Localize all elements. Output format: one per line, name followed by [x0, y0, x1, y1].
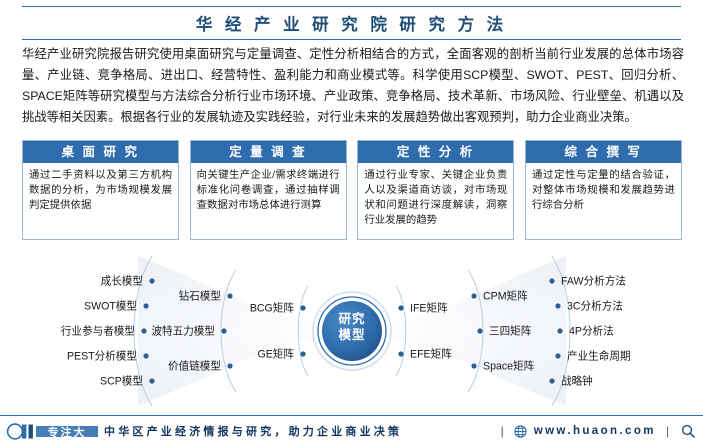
page-title: 华 经 产 业 研 究 院 研 究 方 法	[196, 11, 507, 35]
method-card-desk-research: 桌 面 研 究 通过二手资料以及第三方机构数据的分析，为市场规模发展判定提供依据	[22, 140, 179, 240]
center-label-line1: 研究	[329, 311, 375, 327]
diagram-center-label: 研究 模型	[329, 311, 375, 343]
footer-bar: 专注大 中华区产业经济情报与研究，助力企业商业决策 | www.huaon.co…	[0, 415, 703, 446]
title-bar: 华 经 产 业 研 究 院 研 究 方 法	[22, 6, 681, 40]
search-icon[interactable]	[681, 424, 695, 438]
footer-separator-2: |	[666, 424, 669, 438]
model-node-space-matrix[interactable]: Space矩阵	[483, 359, 534, 374]
method-card-quantitative-survey: 定 量 调 查 向关键生产企业/需求终端进行标准化问卷调查，通过抽样调查数据对市…	[190, 140, 347, 240]
model-node-strategy-clock[interactable]: 战略钟	[561, 374, 593, 389]
method-card-list: 桌 面 研 究 通过二手资料以及第三方机构数据的分析，为市场规模发展判定提供依据…	[22, 140, 682, 240]
model-node-faw-analysis[interactable]: FAW分析方法	[561, 274, 626, 289]
model-node-pest[interactable]: PEST分析模型	[67, 349, 137, 364]
model-node-scp[interactable]: SCP模型	[100, 374, 143, 389]
globe-icon	[514, 425, 527, 438]
footer-right-group: | www.huaon.com |	[491, 424, 695, 438]
logo-watermark-text: 专注大	[36, 424, 98, 440]
model-node-cpm-matrix[interactable]: CPM矩阵	[483, 289, 528, 304]
model-node-growth[interactable]: 成长模型	[101, 274, 143, 289]
method-card-qualitative-analysis: 定 性 分 析 通过行业专家、关键企业负责人以及渠道商访谈，对市场现状和问题进行…	[357, 140, 514, 240]
intro-paragraph: 华经产业研究院报告研究使用桌面研究与定量调查、定性分析相结合的方式，全面客观的剖…	[22, 44, 684, 128]
model-node-4p-analysis[interactable]: 4P分析法	[569, 324, 614, 339]
model-node-diamond[interactable]: 钻石模型	[179, 289, 221, 304]
card-body: 通过行业专家、关键企业负责人以及渠道商访谈，对市场现状和问题进行深度解读，洞察行…	[358, 163, 513, 239]
model-node-ife-matrix[interactable]: IFE矩阵	[410, 301, 448, 316]
card-heading: 综 合 撰 写	[526, 141, 681, 163]
footer-website-url[interactable]: www.huaon.com	[534, 425, 656, 437]
model-node-industry-player[interactable]: 行业参与者模型	[61, 324, 135, 339]
model-node-34-matrix[interactable]: 三四矩阵	[489, 324, 531, 339]
model-node-industry-lifecycle[interactable]: 产业生命周期	[567, 349, 631, 364]
card-body: 通过二手资料以及第三方机构数据的分析，为市场规模发展判定提供依据	[23, 163, 178, 239]
method-card-comprehensive-writing: 综 合 撰 写 通过定性与定量的结合验证，对整体市场规模和发展趋势进行综合分析	[525, 140, 682, 240]
center-label-line2: 模型	[329, 327, 375, 343]
footer-tagline: 中华区产业经济情报与研究，助力企业商业决策	[104, 423, 402, 439]
huaon-logo[interactable]: 专注大	[6, 422, 102, 441]
model-node-3c-analysis[interactable]: 3C分析方法	[567, 299, 623, 314]
model-node-ge-matrix[interactable]: GE矩阵	[258, 347, 295, 362]
footer-separator-1: |	[501, 424, 504, 438]
model-node-value-chain[interactable]: 价值链模型	[168, 359, 221, 374]
card-body: 向关键生产企业/需求终端进行标准化问卷调查，通过抽样调查数据对市场总体进行测算	[191, 163, 346, 239]
model-node-efe-matrix[interactable]: EFE矩阵	[410, 347, 452, 362]
card-heading: 桌 面 研 究	[23, 141, 178, 163]
model-node-swot[interactable]: SWOT模型	[84, 299, 137, 314]
model-node-bcg-matrix[interactable]: BCG矩阵	[250, 301, 294, 316]
card-body: 通过定性与定量的结合验证，对整体市场规模和发展趋势进行综合分析	[526, 163, 681, 239]
model-node-porter-five-force[interactable]: 波特五力模型	[151, 324, 215, 339]
card-heading: 定 性 分 析	[358, 141, 513, 163]
card-heading: 定 量 调 查	[191, 141, 346, 163]
